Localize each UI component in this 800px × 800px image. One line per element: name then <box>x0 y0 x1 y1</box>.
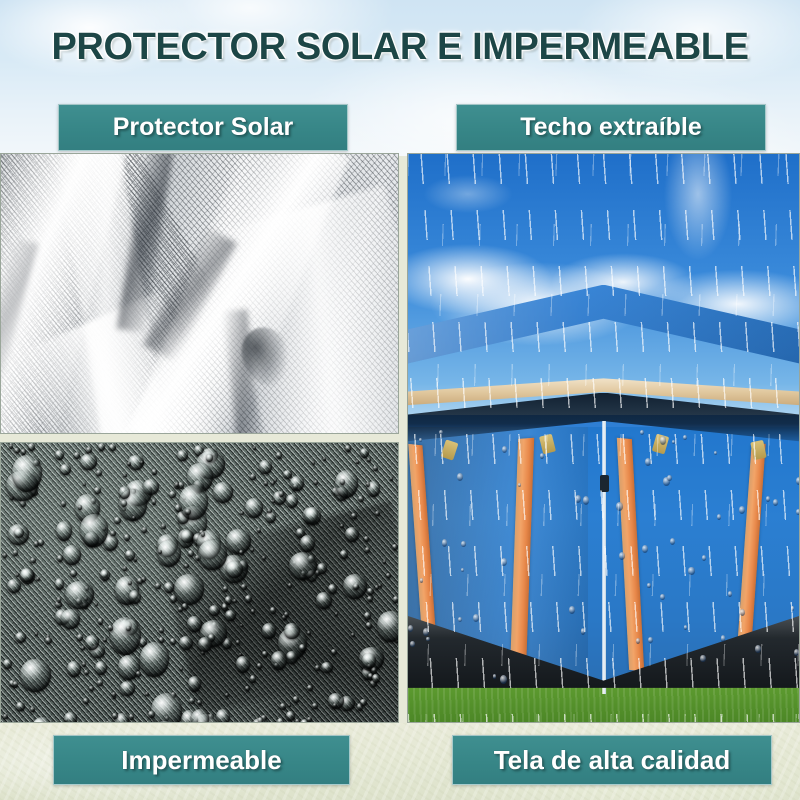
water-droplet <box>64 712 77 723</box>
water-droplet <box>213 482 233 502</box>
water-droplet <box>383 560 386 564</box>
panel-sun-fabric <box>0 153 399 434</box>
water-droplet <box>277 718 283 723</box>
water-droplet <box>85 635 99 650</box>
water-droplet <box>70 570 77 577</box>
water-droplet <box>345 445 351 451</box>
water-droplet <box>360 699 366 706</box>
water-droplet <box>96 470 102 476</box>
water-droplet <box>152 469 156 474</box>
water-droplet <box>396 656 399 660</box>
water-droplet <box>155 583 160 589</box>
water-droplet <box>289 552 317 580</box>
water-droplet <box>390 477 394 481</box>
water-droplet <box>105 721 112 723</box>
water-droplet <box>286 651 297 664</box>
water-droplet <box>333 703 337 708</box>
water-droplet <box>100 569 110 581</box>
badge-techo-extraible: Techo extraíble <box>456 104 766 151</box>
water-droplet <box>335 612 338 616</box>
water-droplet <box>362 653 376 669</box>
water-droplet <box>129 590 141 604</box>
badge-protector-solar-label: Protector Solar <box>113 113 294 142</box>
water-droplet <box>67 661 81 677</box>
water-droplet <box>57 555 63 562</box>
water-droplet <box>161 524 166 529</box>
water-droplet <box>151 693 182 723</box>
water-droplet <box>373 466 378 472</box>
water-droplet <box>284 623 300 640</box>
water-droplet <box>60 464 71 475</box>
water-droplet <box>258 717 264 723</box>
water-droplet <box>119 486 130 499</box>
water-droplet <box>392 544 398 550</box>
water-droplet <box>140 461 144 465</box>
water-droplet <box>16 702 24 711</box>
water-droplet <box>226 529 251 554</box>
water-droplet <box>222 604 227 611</box>
water-droplet <box>378 584 381 588</box>
water-droplet <box>112 692 116 696</box>
water-droplet <box>74 452 80 458</box>
water-droplet <box>20 500 26 507</box>
water-droplet <box>185 509 191 515</box>
water-droplet <box>189 698 195 704</box>
water-droplet <box>184 564 188 568</box>
water-droplet <box>143 479 160 495</box>
water-droplet <box>77 634 83 642</box>
water-droplet <box>95 603 98 606</box>
water-droplet <box>174 574 203 605</box>
water-droplet <box>97 680 103 686</box>
water-droplet <box>123 474 126 478</box>
water-droplet <box>180 667 183 671</box>
water-droplet <box>82 662 86 667</box>
water-droplet <box>295 719 300 723</box>
badge-techo-extraible-label: Techo extraíble <box>520 113 702 142</box>
rain-streaks-back <box>408 154 799 722</box>
water-droplet <box>290 476 304 491</box>
water-droplet <box>340 550 348 558</box>
water-droplet <box>223 586 228 592</box>
water-droplet <box>321 662 333 673</box>
water-droplet <box>159 628 164 633</box>
water-droplet <box>335 470 358 498</box>
water-droplet <box>56 521 72 541</box>
water-droplet <box>323 457 327 461</box>
water-droplet <box>305 507 321 525</box>
water-droplet <box>114 517 121 524</box>
water-droplet <box>78 505 83 510</box>
badge-tela-de-alta-calidad-label: Tela de alta calidad <box>494 745 731 776</box>
water-droplet <box>364 612 371 620</box>
water-droplet <box>123 566 127 571</box>
water-droplet <box>251 609 255 613</box>
water-droplet <box>3 659 12 669</box>
water-droplet <box>262 623 276 639</box>
water-droplet <box>372 674 380 684</box>
water-droplet <box>367 588 373 595</box>
water-droplet <box>266 511 276 523</box>
water-droplet <box>198 637 212 652</box>
water-droplet <box>159 637 163 642</box>
water-droplet <box>164 582 173 593</box>
panel-tent-rain <box>407 153 800 723</box>
water-droplet <box>312 703 317 709</box>
water-droplet <box>108 625 113 630</box>
water-droplet <box>257 528 261 533</box>
water-droplet <box>286 711 294 722</box>
water-droplet <box>386 573 391 578</box>
water-droplet <box>13 681 19 688</box>
water-droplet <box>245 595 252 603</box>
badge-impermeable-label: Impermeable <box>121 745 281 776</box>
water-droplet <box>393 596 399 603</box>
water-droplet <box>187 616 202 633</box>
water-droplet <box>21 449 26 455</box>
water-droplet <box>280 703 286 710</box>
water-droplet <box>45 637 52 644</box>
water-droplet <box>109 444 116 451</box>
water-droplet <box>307 631 310 634</box>
water-droplet <box>245 686 250 691</box>
water-droplet <box>377 611 399 643</box>
water-droplet <box>15 632 26 643</box>
water-droplet <box>351 633 355 637</box>
water-droplet <box>293 696 300 702</box>
water-droplet <box>188 550 194 557</box>
water-droplet <box>259 460 272 475</box>
water-droplet <box>81 646 85 650</box>
water-droplet <box>328 584 337 594</box>
water-droplet <box>3 553 7 558</box>
badge-impermeable: Impermeable <box>53 735 350 785</box>
water-droplet <box>191 709 209 723</box>
water-droplet <box>94 487 101 494</box>
water-droplet <box>264 481 268 486</box>
water-droplet <box>30 707 34 712</box>
water-droplet <box>85 722 88 723</box>
water-droplet <box>288 583 292 588</box>
water-droplet <box>89 686 94 691</box>
water-droplet <box>315 665 320 671</box>
panel-waterproof <box>0 442 399 723</box>
water-droplet <box>13 550 18 555</box>
water-droplet <box>209 605 220 616</box>
water-droplet <box>262 556 266 560</box>
water-droplet <box>152 499 156 504</box>
water-droplet <box>279 491 284 497</box>
water-droplet <box>267 509 271 513</box>
water-droplet <box>14 528 24 538</box>
water-droplet <box>351 513 357 519</box>
water-droplet <box>158 550 162 554</box>
product-infographic: PROTECTOR SOLAR E IMPERMEABLE Protector … <box>0 0 800 800</box>
water-droplet <box>137 578 143 584</box>
tent-scene-image <box>408 154 799 722</box>
water-droplet <box>236 656 250 673</box>
silver-fabric-image <box>1 154 398 433</box>
water-droplet <box>124 534 130 541</box>
water-droplet <box>250 675 256 683</box>
badge-protector-solar: Protector Solar <box>58 104 348 151</box>
water-droplet <box>98 618 104 625</box>
badge-tela-de-alta-calidad: Tela de alta calidad <box>452 735 772 785</box>
water-droplet <box>307 685 312 691</box>
water-droplet <box>110 531 116 537</box>
page-title: PROTECTOR SOLAR E IMPERMEABLE <box>0 26 800 69</box>
waterproof-fabric-image <box>1 443 398 722</box>
water-droplet <box>142 527 147 533</box>
water-droplet <box>132 516 136 520</box>
water-droplet <box>179 485 208 520</box>
water-droplet <box>284 612 289 617</box>
water-droplet <box>367 458 371 463</box>
